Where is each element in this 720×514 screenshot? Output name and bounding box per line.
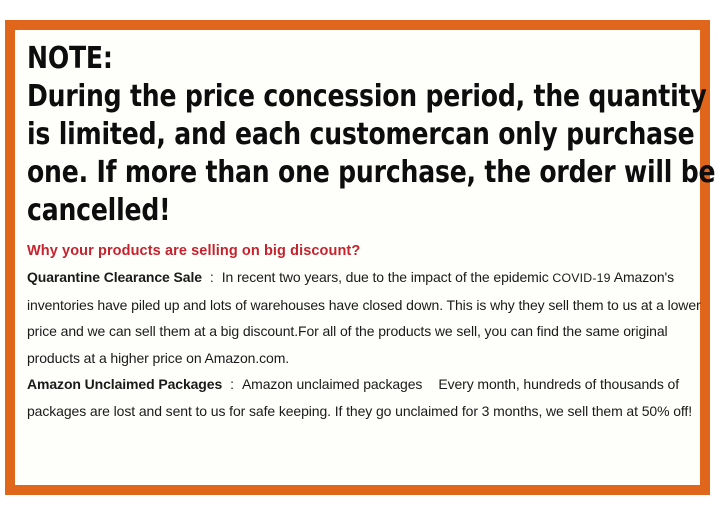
headline-line-4: cancelled! <box>27 192 656 230</box>
headline-line-2: is limited, and each customercan only pu… <box>27 116 656 154</box>
notice-headline: NOTE: During the price concession period… <box>27 40 656 230</box>
paragraph-body-before-unclaimed: Amazon unclaimed packages <box>242 376 422 392</box>
paragraph-colon-quarantine: : <box>210 269 214 285</box>
paragraph-body-before-quarantine: In recent two years, due to the impact o… <box>222 269 553 285</box>
headline-line-3: one. If more than one purchase, the orde… <box>27 154 656 192</box>
notice-page: NOTE: During the price concession period… <box>0 0 720 514</box>
headline-line-1: During the price concession period, the … <box>27 78 656 116</box>
discount-question-heading: Why your products are selling on big dis… <box>27 238 700 264</box>
orange-notice-box: NOTE: During the price concession period… <box>5 20 710 495</box>
paragraph-colon-unclaimed: : <box>230 376 234 392</box>
notice-content: NOTE: During the price concession period… <box>15 30 700 485</box>
paragraph-amazon-unclaimed-packages: Amazon Unclaimed Packages:Amazon unclaim… <box>27 371 719 424</box>
paragraph-term-quarantine: Quarantine Clearance Sale <box>27 269 202 285</box>
headline-line-note: NOTE: <box>27 40 656 78</box>
paragraph-quarantine-clearance-sale: Quarantine Clearance Sale:In recent two … <box>27 264 719 371</box>
covid-19-label: COVID-19 <box>552 271 610 285</box>
notice-body: Quarantine Clearance Sale:In recent two … <box>27 264 719 424</box>
paragraph-term-unclaimed: Amazon Unclaimed Packages <box>27 376 222 392</box>
